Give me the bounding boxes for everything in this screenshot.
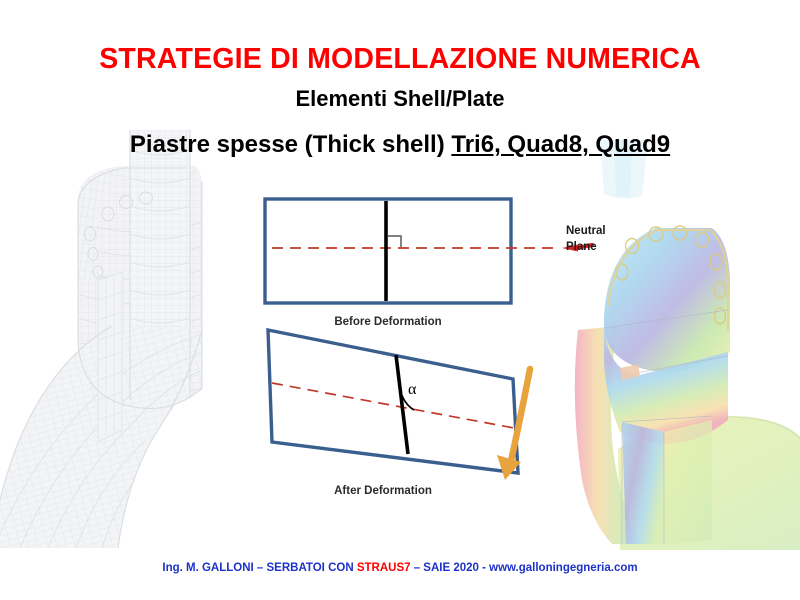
after-plate-parallelogram (268, 330, 518, 473)
footer-credit-line: Ing. M. GALLONI – SERBATOI CON STRAUS7 –… (0, 562, 800, 574)
footer-part-2: – SAIE 2020 - www.galloningegneria.com (411, 562, 638, 574)
shell-deformation-diagram: Neutral Plane Before Deformation α Af (0, 0, 800, 600)
angle-alpha-symbol: α (408, 381, 417, 398)
before-plate-rect (265, 199, 511, 303)
before-deformation-caption: Before Deformation (334, 316, 441, 328)
after-deformation-caption: After Deformation (334, 485, 432, 497)
before-deformation-figure: Neutral Plane Before Deformation (265, 199, 606, 328)
after-deformation-figure: α After Deformation (268, 330, 530, 497)
footer-part-1: Ing. M. GALLONI – SERBATOI CON (162, 562, 356, 574)
neutral-plane-label-line2: Plane (566, 241, 597, 253)
footer-software-name: STRAUS7 (357, 562, 411, 574)
neutral-plane-label-line1: Neutral (566, 225, 606, 237)
slide-canvas: STRATEGIE DI MODELLAZIONE NUMERICA Eleme… (0, 0, 800, 600)
